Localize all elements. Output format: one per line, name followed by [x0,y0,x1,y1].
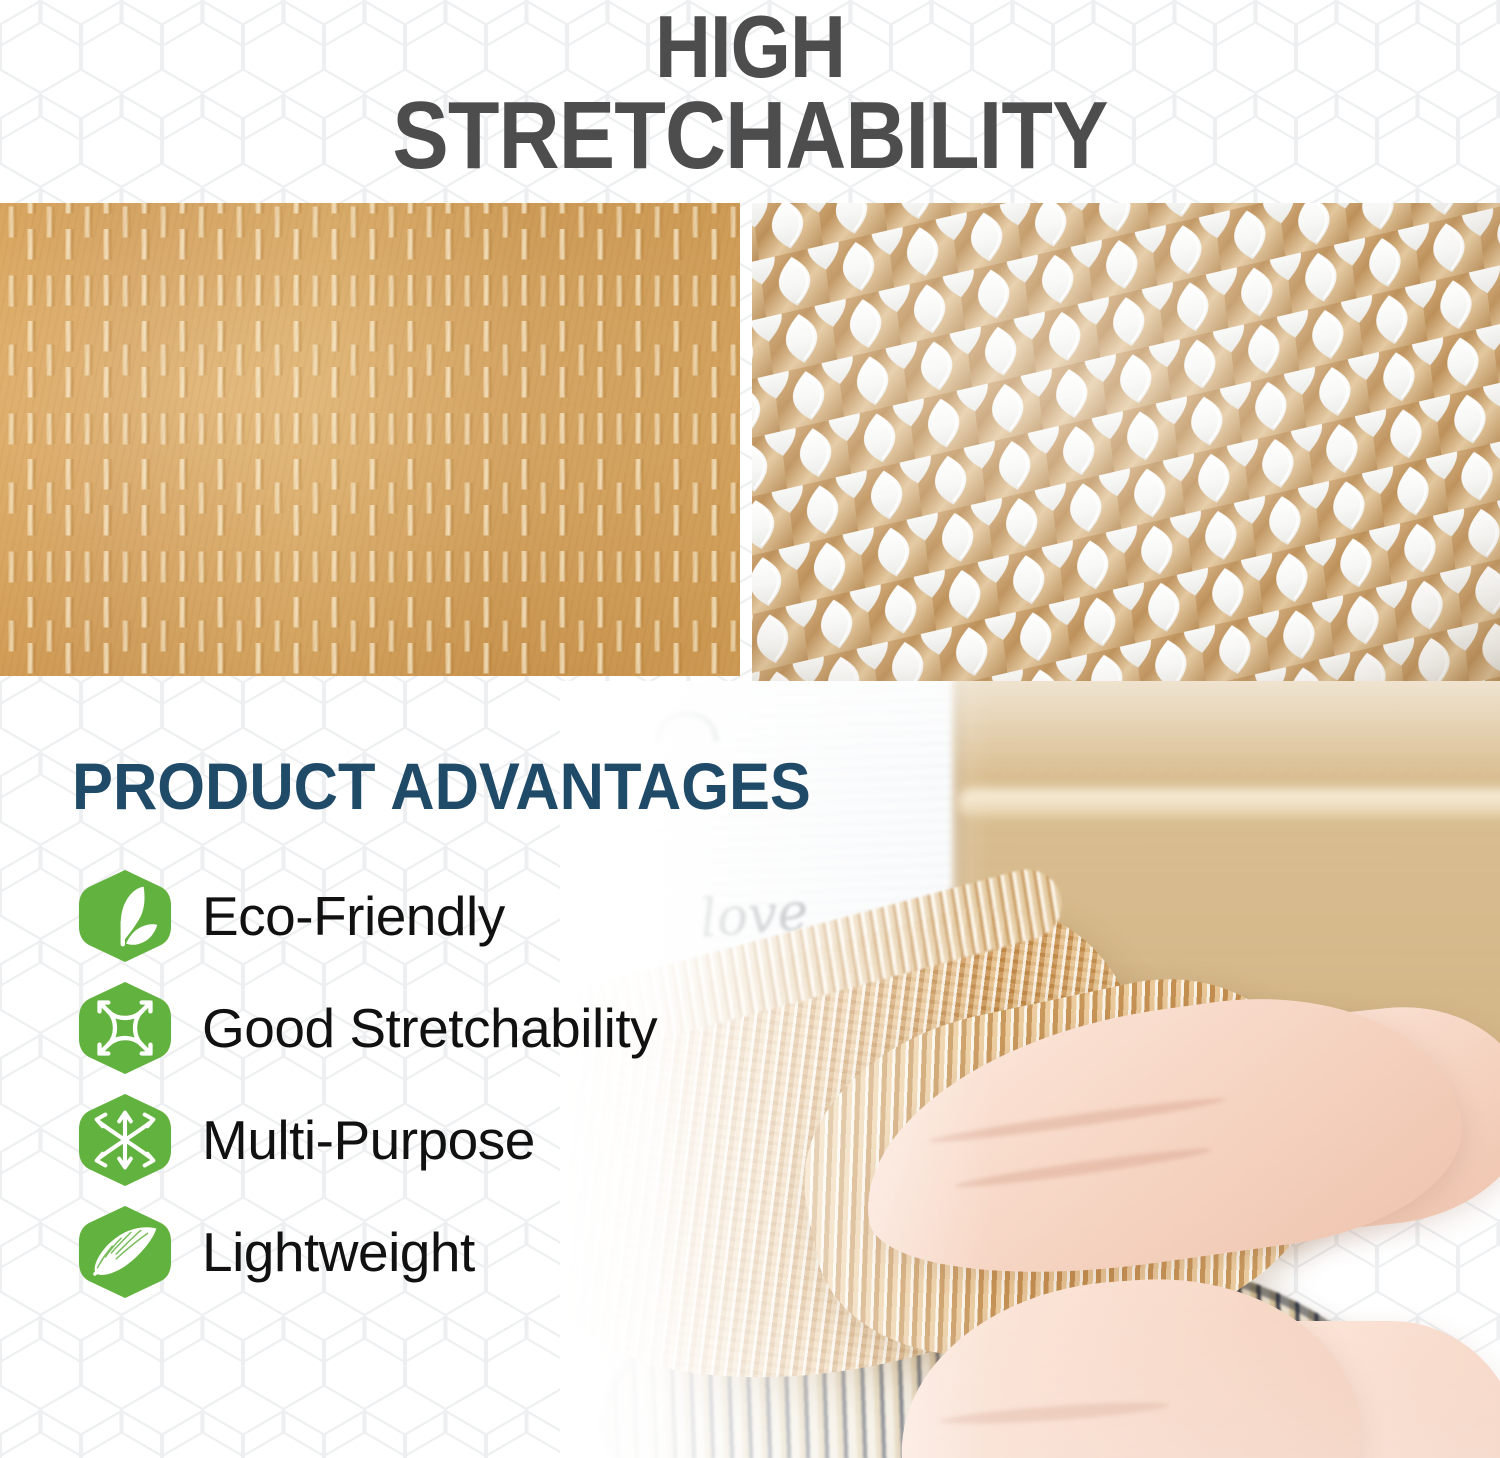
advantage-item-eco-friendly: Eco-Friendly [76,860,836,972]
advantage-label: Eco-Friendly [202,884,505,948]
page-title-line-1: HIGH [90,4,1410,89]
advantage-label: Good Stretchability [202,996,657,1060]
stretched-paper-photo [752,203,1500,681]
advantage-label: Multi-Purpose [202,1108,535,1172]
kraft-grain-overlay [0,203,740,676]
advantage-item-multi-purpose: Multi-Purpose [76,1084,836,1196]
product-feature-graphic: HIGH STRETCHABILITY [0,0,1500,1458]
advantage-item-good-stretchability: Good Stretchability [76,972,836,1084]
feather-icon [76,1203,174,1301]
advantages-list: Eco-Friendly [76,860,836,1308]
unstretched-paper-photo [0,203,740,676]
stretch-arrows-icon [76,979,174,1077]
product-advantages-heading: PRODUCT ADVANTAGES [72,748,811,824]
page-title-line-2: STRETCHABILITY [90,89,1410,182]
basket-rim [958,789,1500,817]
advantage-label: Lightweight [202,1220,475,1284]
multi-direction-arrows-icon [76,1091,174,1189]
expanded-honeycomb-net [752,203,1500,681]
advantage-item-lightweight: Lightweight [76,1196,836,1308]
stretchability-comparison-strip [0,203,1500,681]
leaf-icon [76,867,174,965]
page-title: HIGH STRETCHABILITY [90,4,1410,182]
